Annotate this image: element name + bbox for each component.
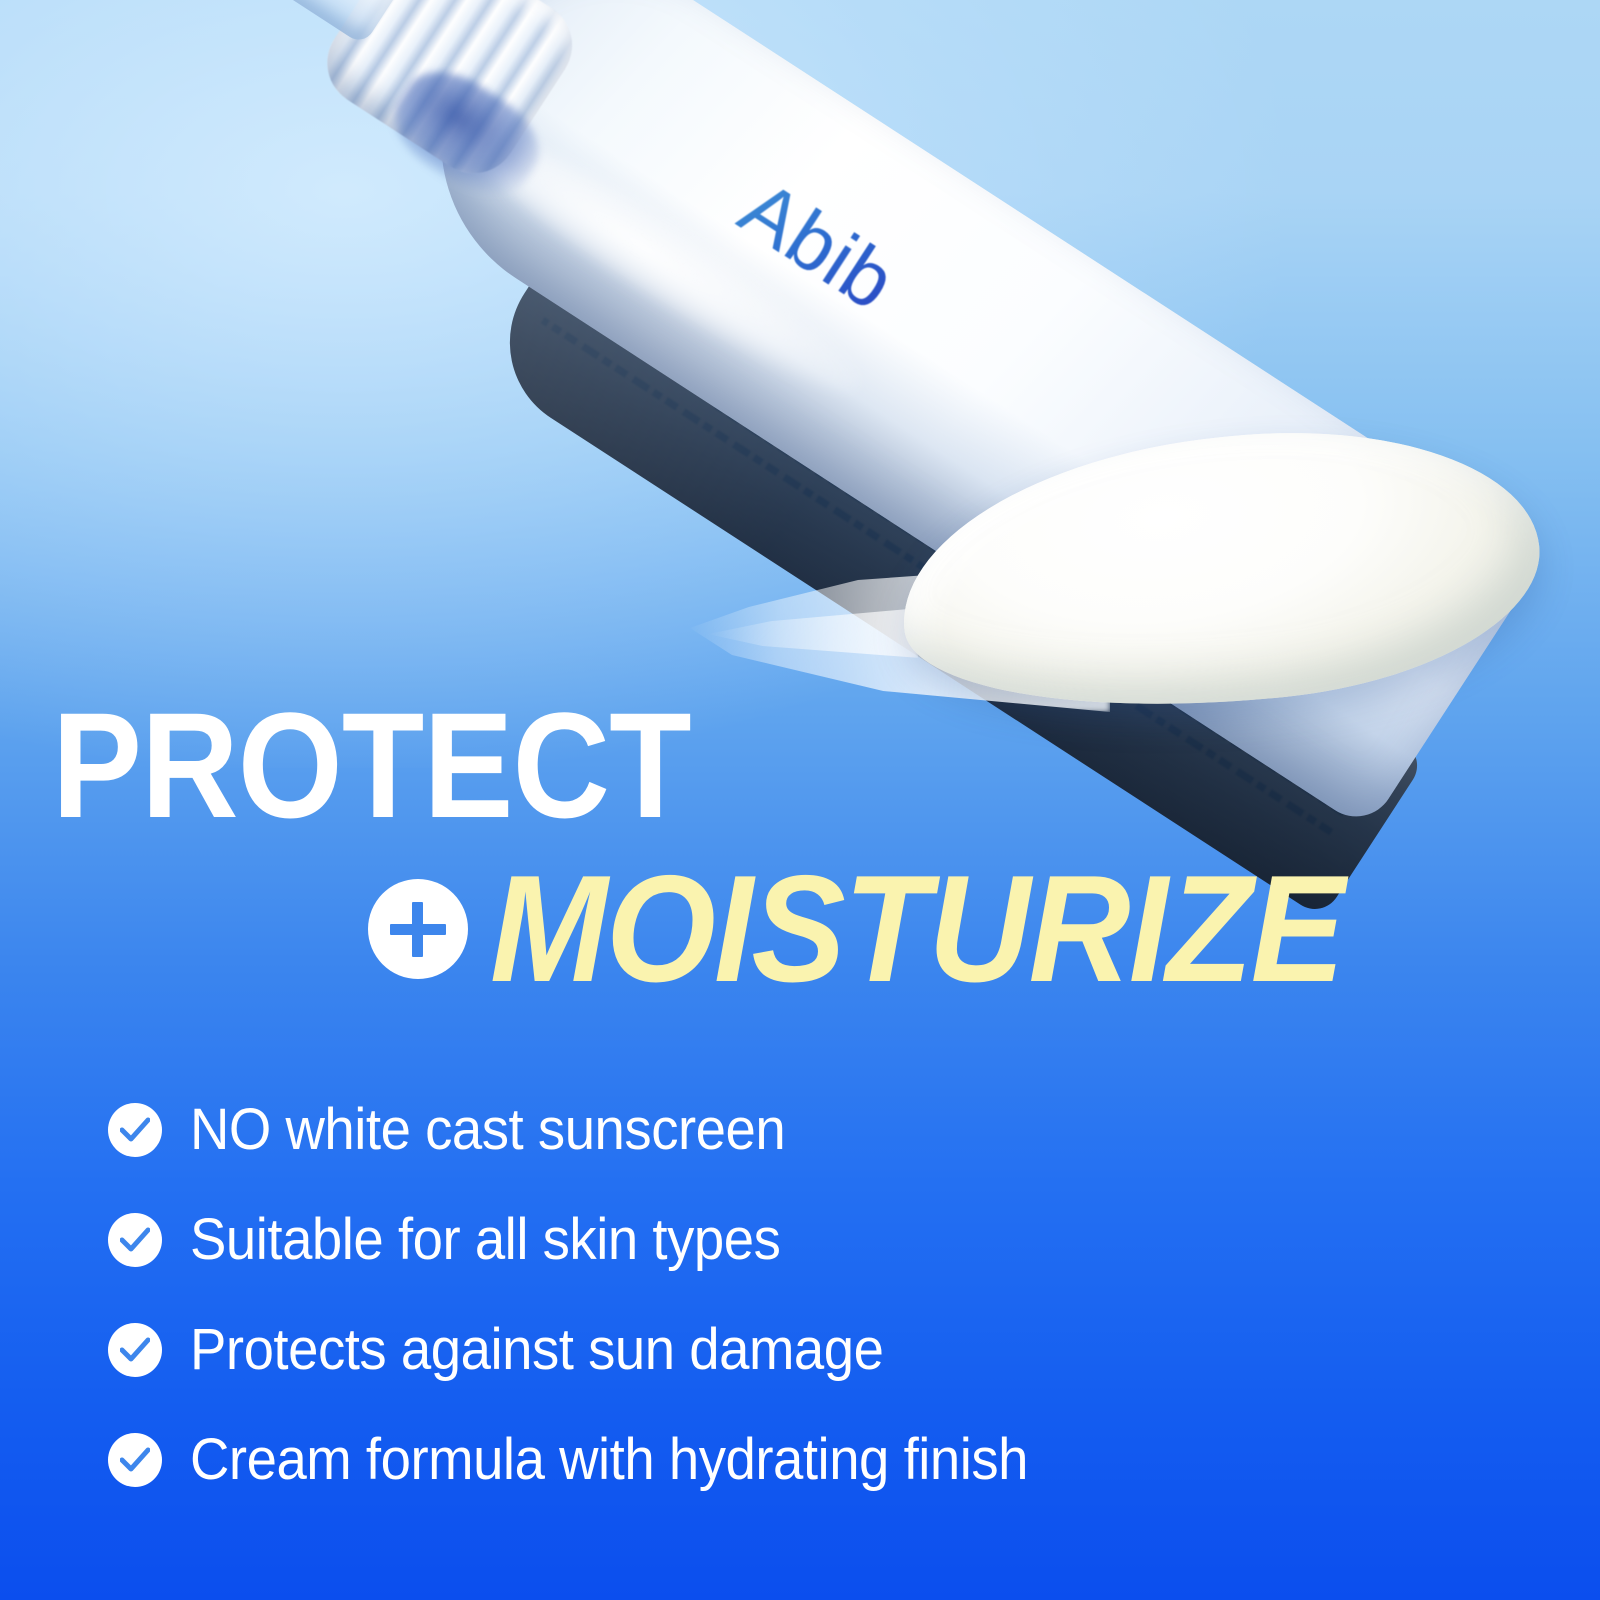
benefit-label: NO white cast sunscreen [190, 1099, 785, 1161]
plus-icon [368, 879, 468, 979]
benefit-label: Protects against sun damage [190, 1319, 883, 1381]
benefit-item: Suitable for all skin types [108, 1206, 1508, 1274]
benefits-list: NO white cast sunscreen Suitable for all… [108, 1096, 1508, 1536]
check-circle-icon [108, 1433, 162, 1487]
check-circle-icon [108, 1213, 162, 1267]
headline-moisturize-text: MOISTURIZE [490, 853, 1343, 1005]
benefit-label: Suitable for all skin types [190, 1209, 780, 1271]
check-circle-icon [108, 1103, 162, 1157]
check-circle-icon [108, 1323, 162, 1377]
benefit-item: Protects against sun damage [108, 1316, 1508, 1384]
product-promo-banner: Abib PROTECT MOISTURIZE [0, 0, 1600, 1600]
headline-line-protect: PROTECT [52, 690, 691, 840]
benefit-item: NO white cast sunscreen [108, 1096, 1508, 1164]
benefit-item: Cream formula with hydrating finish [108, 1426, 1508, 1494]
headline-line-moisturize: MOISTURIZE [368, 853, 1407, 1005]
benefit-label: Cream formula with hydrating finish [190, 1429, 1028, 1491]
